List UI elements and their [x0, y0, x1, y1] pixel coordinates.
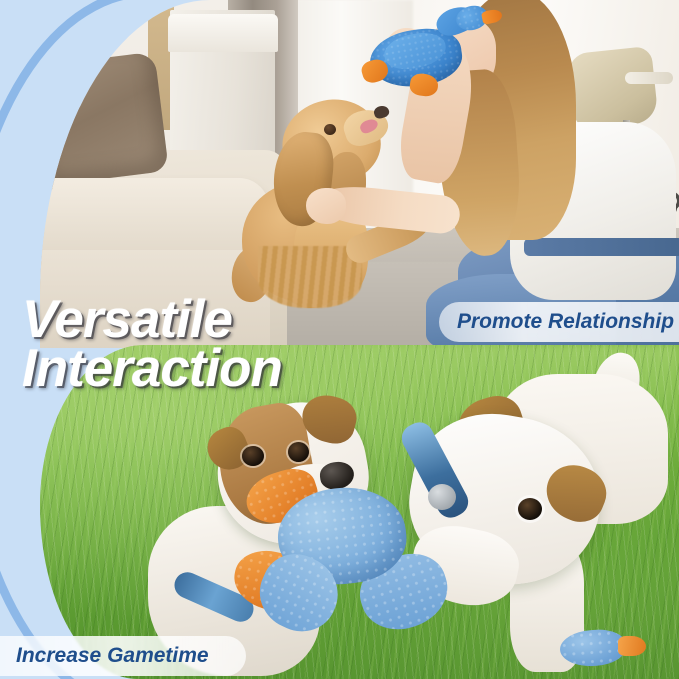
terrier-eye — [288, 442, 309, 462]
badge-label: Increase Gametime — [16, 644, 209, 668]
toy-texture — [559, 628, 627, 669]
duck-toy-tugged — [240, 470, 470, 670]
dog-nose — [373, 104, 391, 120]
duck-toy-small — [560, 622, 656, 676]
sofa-armrest — [40, 178, 269, 256]
dog-eye — [324, 124, 336, 135]
sofa-cushion — [43, 52, 169, 185]
badge-increase-gametime: Increase Gametime — [0, 636, 246, 676]
girl-waistband — [524, 238, 679, 256]
badge-promote-relationship: Promote Relationship — [439, 302, 679, 342]
terrier-eye — [242, 446, 264, 466]
cabinet-top — [168, 14, 278, 52]
toy-beak — [481, 8, 503, 25]
terrier-eye — [518, 498, 542, 520]
badge-label: Promote Relationship — [457, 310, 674, 334]
toy-body — [559, 628, 627, 669]
dog-fur-fringe — [258, 246, 362, 308]
top-photo-panel — [40, 0, 679, 348]
toy-beak — [618, 636, 646, 656]
duck-toy-held — [362, 4, 502, 100]
girl-extended-hand — [306, 188, 346, 224]
product-image: Versatile Interaction Promote Relationsh… — [0, 0, 679, 679]
